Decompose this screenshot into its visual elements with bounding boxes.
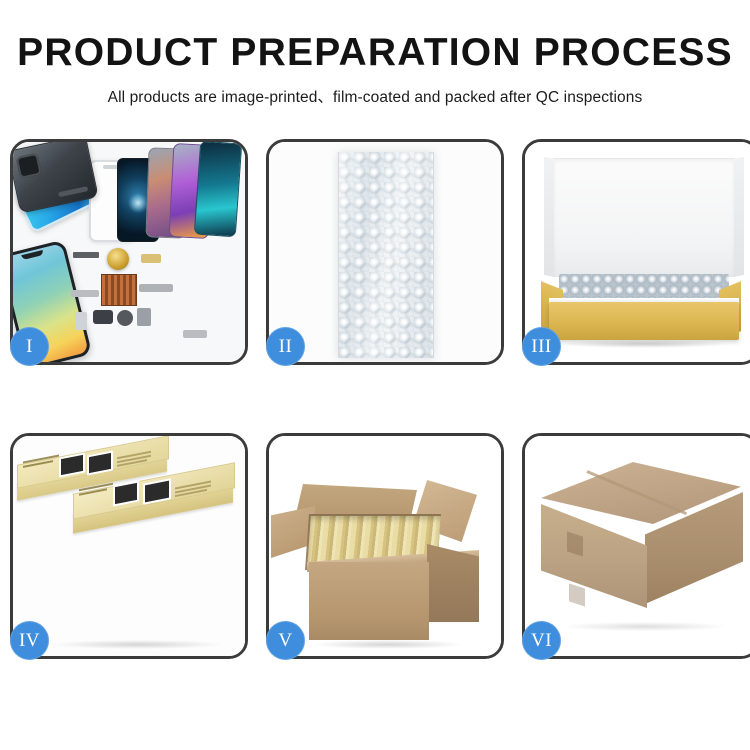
small-part-icon <box>75 312 87 330</box>
step-panel-2: II <box>266 139 504 365</box>
carton-front-panel <box>309 562 429 640</box>
step-4-image <box>13 436 245 656</box>
step-badge-4: IV <box>10 621 49 660</box>
step-panel-1: I <box>10 139 248 365</box>
drop-shadow <box>559 340 729 348</box>
step-badge-6: VI <box>522 621 561 660</box>
drop-shadow <box>53 640 223 649</box>
header: PRODUCT PREPARATION PROCESS All products… <box>0 0 750 107</box>
connector-part-icon <box>73 252 99 258</box>
step-1-image <box>13 142 245 362</box>
small-part-icon <box>93 310 113 324</box>
step-2-image <box>269 142 501 362</box>
page-subtitle: All products are image-printed、film-coat… <box>0 72 750 107</box>
step-badge-3: III <box>522 327 561 366</box>
gold-connector-part-icon <box>141 254 161 263</box>
drop-shadow <box>313 640 463 649</box>
mailer-box-lid-icon <box>553 158 735 277</box>
camera-module-icon <box>117 310 133 326</box>
mailer-box-front-icon <box>549 302 739 340</box>
step-badge-5: V <box>266 621 305 660</box>
bubble-wrap-highlight <box>339 152 433 358</box>
step-3-image <box>525 142 750 362</box>
logic-board-icon <box>101 274 137 306</box>
phone-screen-teal-icon <box>194 142 242 237</box>
step-panel-4: IV <box>10 433 248 659</box>
flex-cable-part-icon <box>71 290 99 297</box>
step-badge-1: I <box>10 327 49 366</box>
flex-cable-part-icon <box>139 284 173 292</box>
step-5-image <box>269 436 501 656</box>
page-title: PRODUCT PREPARATION PROCESS <box>0 0 750 72</box>
bubble-wrap-icon <box>338 152 434 358</box>
step-panel-3: III <box>522 139 750 365</box>
product-preparation-infographic: PRODUCT PREPARATION PROCESS All products… <box>0 0 750 750</box>
step-6-image <box>525 436 750 656</box>
small-part-icon <box>137 308 151 326</box>
step-badge-2: II <box>266 327 305 366</box>
small-part-icon <box>183 330 207 338</box>
gold-coil-part-icon <box>107 248 129 270</box>
step-panel-5: V <box>266 433 504 659</box>
steps-grid: I II III <box>10 139 740 684</box>
drop-shadow <box>565 622 725 631</box>
carton-side-panel <box>427 544 479 622</box>
step-panel-6: VI <box>522 433 750 659</box>
